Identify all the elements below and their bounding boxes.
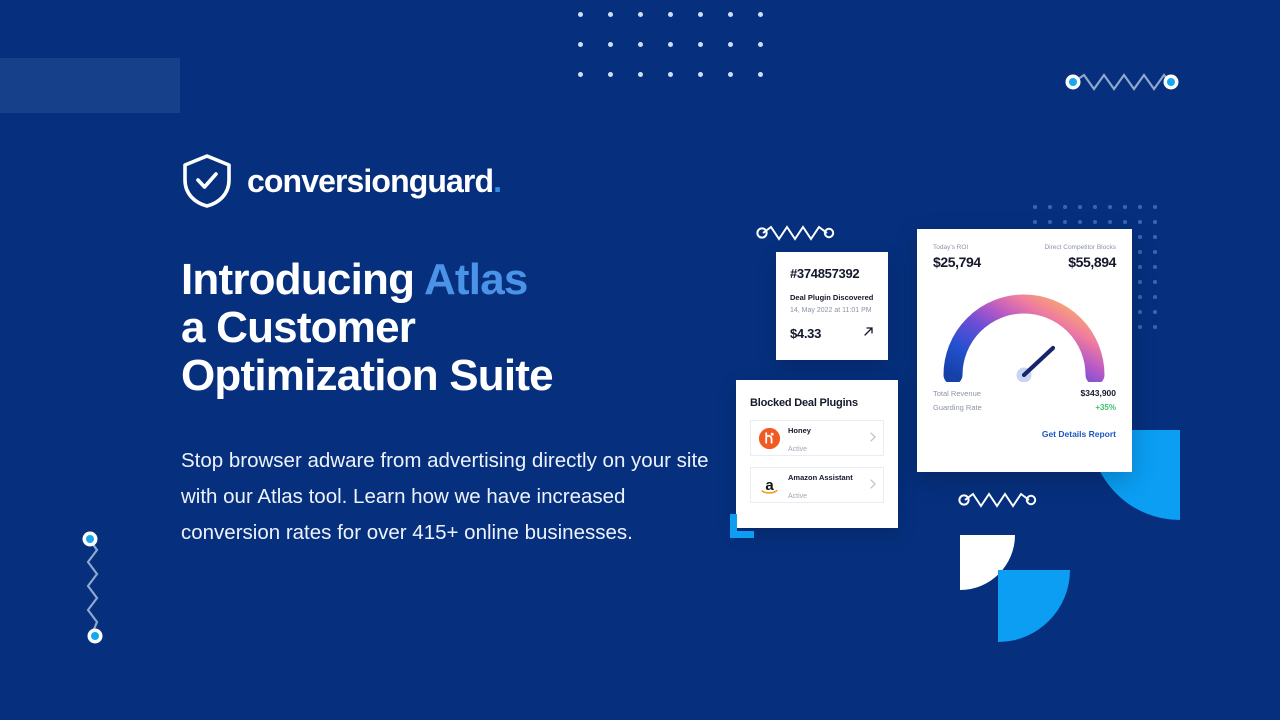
plugin-meta: Amazon Assistant Active <box>788 467 862 503</box>
chevron-right-icon[interactable] <box>870 432 876 444</box>
blocked-plugins-card: Blocked Deal Plugins Honey Active a <box>736 380 898 528</box>
plugin-meta: Honey Active <box>788 420 862 456</box>
dashboard-card: Today's ROI $25,794 Direct Competitor Bl… <box>917 229 1132 472</box>
amazon-logo-icon: a <box>759 475 780 496</box>
chevron-right-icon[interactable] <box>870 479 876 491</box>
row-value: $343,900 <box>1081 388 1116 398</box>
transaction-title: Deal Plugin Discovered <box>790 293 874 302</box>
stat-todays-roi: Today's ROI $25,794 <box>933 244 981 270</box>
list-item[interactable]: a Amazon Assistant Active <box>750 467 884 503</box>
plugin-status: Active <box>788 493 807 500</box>
table-row: Guarding Rate +35% <box>933 403 1116 412</box>
transaction-id: #374857392 <box>790 266 874 281</box>
plugin-name: Honey <box>788 426 811 435</box>
corner-bracket-accent <box>730 514 754 538</box>
row-value: +35% <box>1095 403 1116 412</box>
honey-logo-icon <box>759 428 780 449</box>
transaction-card[interactable]: #374857392 Deal Plugin Discovered 14, Ma… <box>776 252 888 360</box>
stat-value: $55,894 <box>1044 254 1116 270</box>
blocked-plugins-title: Blocked Deal Plugins <box>750 397 884 409</box>
product-mockup: #374857392 Deal Plugin Discovered 14, Ma… <box>0 0 1280 720</box>
row-key: Total Revenue <box>933 389 981 398</box>
list-item[interactable]: Honey Active <box>750 420 884 456</box>
transaction-timestamp: 14, May 2022 at 11:01 PM <box>790 307 874 314</box>
plugin-name: Amazon Assistant <box>788 473 853 482</box>
gauge-meter-icon <box>933 280 1116 382</box>
table-row: Total Revenue $343,900 <box>933 388 1116 398</box>
plugin-status: Active <box>788 446 807 453</box>
row-key: Guarding Rate <box>933 403 982 412</box>
stat-value: $25,794 <box>933 254 981 270</box>
transaction-amount: $4.33 <box>790 326 821 341</box>
arrow-up-right-icon[interactable] <box>863 324 874 342</box>
stat-label: Direct Competitor Blocks <box>1044 244 1116 251</box>
get-details-report-link[interactable]: Get Details Report <box>1042 429 1116 439</box>
stat-label: Today's ROI <box>933 244 981 251</box>
stat-competitor-blocks: Direct Competitor Blocks $55,894 <box>1044 244 1116 270</box>
